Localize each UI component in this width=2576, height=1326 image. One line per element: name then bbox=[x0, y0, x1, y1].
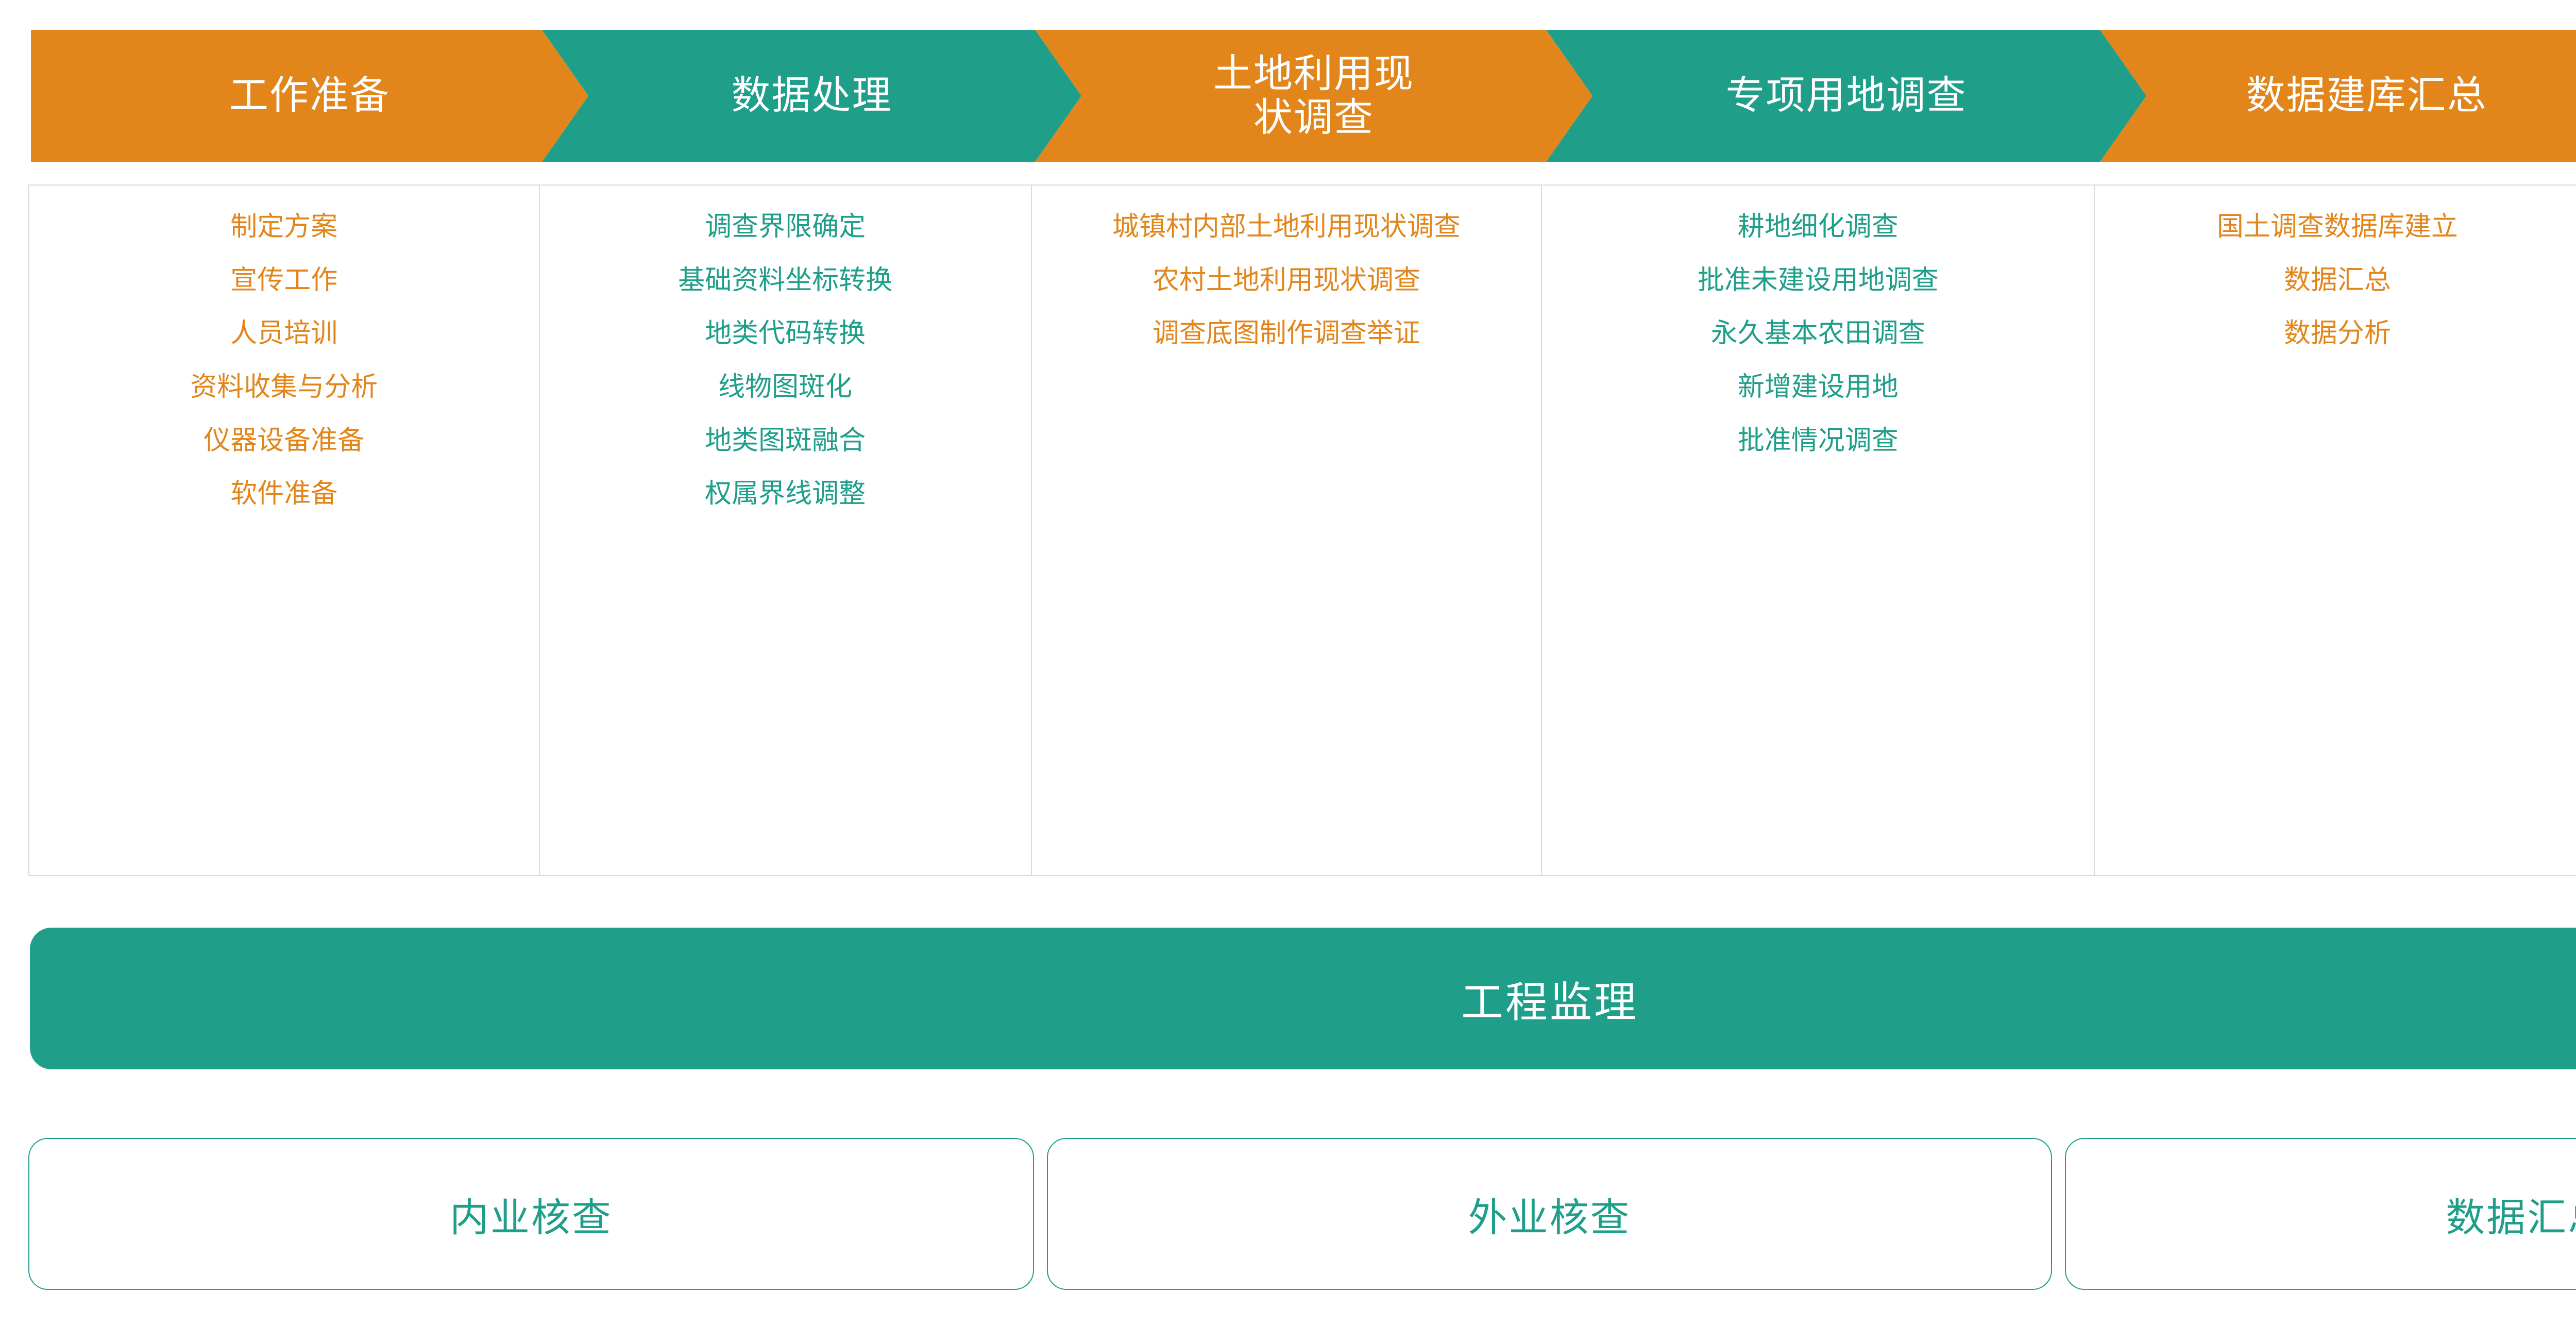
footer-box-gap bbox=[1034, 1138, 1047, 1290]
stage-chevron-4[interactable]: 专项用地调查 bbox=[1546, 30, 2146, 162]
task-item[interactable]: 仪器设备准备 bbox=[37, 423, 532, 459]
task-item[interactable]: 城镇村内部土地利用现状调查 bbox=[1039, 209, 1534, 245]
task-item[interactable]: 制定方案 bbox=[37, 209, 532, 245]
task-item[interactable]: 宣传工作 bbox=[37, 263, 532, 299]
footer-box-label: 数据汇总分析 bbox=[2446, 1186, 2576, 1243]
process-stage-header: 工作准备数据处理土地利用现状调查专项用地调查数据建库汇总统一时点更新 bbox=[31, 30, 2576, 162]
task-item[interactable]: 批准未建设用地调查 bbox=[1549, 263, 2087, 299]
task-item[interactable]: 调查底图制作调查举证 bbox=[1039, 316, 1534, 352]
task-item[interactable]: 永久基本农田调查 bbox=[1549, 316, 2087, 352]
stage-column-5: 国土调查数据库建立数据汇总数据分析 bbox=[2095, 186, 2576, 875]
footer-box-label: 内业核查 bbox=[450, 1186, 613, 1243]
stage-column-2: 调查界限确定基础资料坐标转换地类代码转换线物图斑化地类图斑融合权属界线调整 bbox=[540, 186, 1032, 875]
task-item[interactable]: 国土调查数据库建立 bbox=[2102, 209, 2572, 245]
footer-box-row: 内业核查外业核查数据汇总分析 bbox=[28, 1138, 2576, 1290]
task-item[interactable]: 资料收集与分析 bbox=[37, 370, 532, 406]
stage-chevron-label: 数据处理 bbox=[711, 74, 913, 118]
footer-box-label: 外业核查 bbox=[1468, 1186, 1631, 1243]
task-item[interactable]: 调查界限确定 bbox=[547, 209, 1024, 245]
task-item[interactable]: 新增建设用地 bbox=[1549, 370, 2087, 406]
task-item[interactable]: 数据汇总 bbox=[2102, 263, 2572, 299]
stage-column-1: 制定方案宣传工作人员培训资料收集与分析仪器设备准备软件准备 bbox=[29, 186, 540, 875]
stage-chevron-label: 工作准备 bbox=[209, 74, 411, 118]
task-item[interactable]: 耕地细化调查 bbox=[1549, 209, 2087, 245]
stage-chevron-label: 数据建库汇总 bbox=[2226, 74, 2508, 118]
stage-column-3: 城镇村内部土地利用现状调查农村土地利用现状调查调查底图制作调查举证 bbox=[1032, 186, 1543, 875]
stage-chevron-5[interactable]: 数据建库汇总 bbox=[2100, 30, 2576, 162]
footer-box-gap bbox=[2052, 1138, 2065, 1290]
footer-box-1[interactable]: 内业核查 bbox=[28, 1138, 1034, 1290]
task-item[interactable]: 批准情况调查 bbox=[1549, 423, 2087, 459]
stage-chevron-label: 土地利用现状调查 bbox=[1193, 52, 1435, 140]
task-item[interactable]: 地类图斑融合 bbox=[547, 423, 1024, 459]
task-item[interactable]: 数据分析 bbox=[2102, 316, 2572, 352]
task-item[interactable]: 人员培训 bbox=[37, 316, 532, 352]
task-item[interactable]: 线物图斑化 bbox=[547, 370, 1024, 406]
stage-chevron-label: 专项用地调查 bbox=[1705, 74, 1988, 118]
supervision-label: 工程监理 bbox=[1461, 968, 1638, 1029]
footer-box-2[interactable]: 外业核查 bbox=[1047, 1138, 2053, 1290]
stage-chevron-3[interactable]: 土地利用现状调查 bbox=[1035, 30, 1592, 162]
task-item[interactable]: 地类代码转换 bbox=[547, 316, 1024, 352]
footer-box-3[interactable]: 数据汇总分析 bbox=[2065, 1138, 2576, 1290]
task-item[interactable]: 软件准备 bbox=[37, 476, 532, 512]
task-item[interactable]: 基础资料坐标转换 bbox=[547, 263, 1024, 299]
supervision-bar: 工程监理 bbox=[30, 928, 2576, 1069]
task-item[interactable]: 权属界线调整 bbox=[547, 476, 1024, 512]
stage-detail-panel: 制定方案宣传工作人员培训资料收集与分析仪器设备准备软件准备调查界限确定基础资料坐… bbox=[28, 184, 2576, 876]
stage-chevron-2[interactable]: 数据处理 bbox=[542, 30, 1081, 162]
stage-column-4: 耕地细化调查批准未建设用地调查永久基本农田调查新增建设用地批准情况调查 bbox=[1542, 186, 2095, 875]
task-item[interactable]: 农村土地利用现状调查 bbox=[1039, 263, 1534, 299]
stage-chevron-1[interactable]: 工作准备 bbox=[31, 30, 588, 162]
